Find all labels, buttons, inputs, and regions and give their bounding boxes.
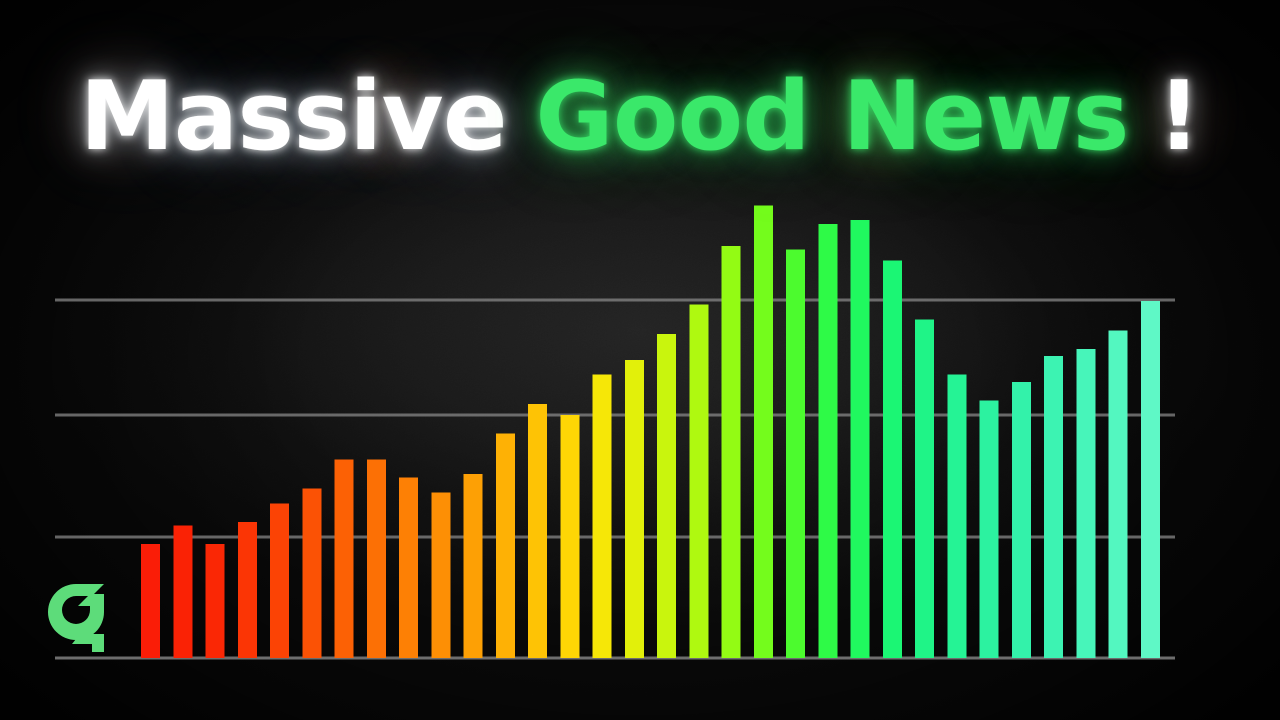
bar xyxy=(1044,356,1063,658)
bar xyxy=(689,305,708,658)
bars xyxy=(141,205,1160,658)
bar xyxy=(238,522,257,658)
bar xyxy=(367,459,386,658)
bar xyxy=(206,544,225,658)
bar xyxy=(335,459,354,658)
bar xyxy=(1012,382,1031,658)
bar xyxy=(818,224,837,658)
bar xyxy=(593,375,612,658)
bar xyxy=(1076,349,1095,658)
g-logo-shape xyxy=(48,584,104,652)
headline: Massive Good News ! xyxy=(0,62,1280,172)
bar xyxy=(625,360,644,658)
bar xyxy=(464,474,483,658)
headline-part-good-news: Good News xyxy=(535,62,1128,172)
youtube-thumbnail-canvas: Massive Good News ! xyxy=(0,0,1280,720)
bar xyxy=(786,250,805,658)
bar xyxy=(496,434,515,658)
bar xyxy=(883,261,902,658)
bar xyxy=(270,503,289,658)
bar xyxy=(302,489,321,658)
bar xyxy=(947,375,966,658)
bar xyxy=(431,492,450,658)
bar xyxy=(528,404,547,658)
bar xyxy=(657,334,676,658)
bar xyxy=(1109,330,1128,658)
bar xyxy=(754,205,773,658)
headline-part-massive: Massive xyxy=(80,62,507,172)
bar xyxy=(915,319,934,658)
bar xyxy=(173,526,192,658)
headline-part-exclamation: ! xyxy=(1157,62,1200,172)
bar xyxy=(980,400,999,658)
bar xyxy=(141,544,160,658)
bar xyxy=(722,246,741,658)
g-logo xyxy=(46,578,112,656)
bar xyxy=(851,220,870,658)
bar xyxy=(560,415,579,658)
bar xyxy=(1141,301,1160,658)
bar xyxy=(399,478,418,658)
